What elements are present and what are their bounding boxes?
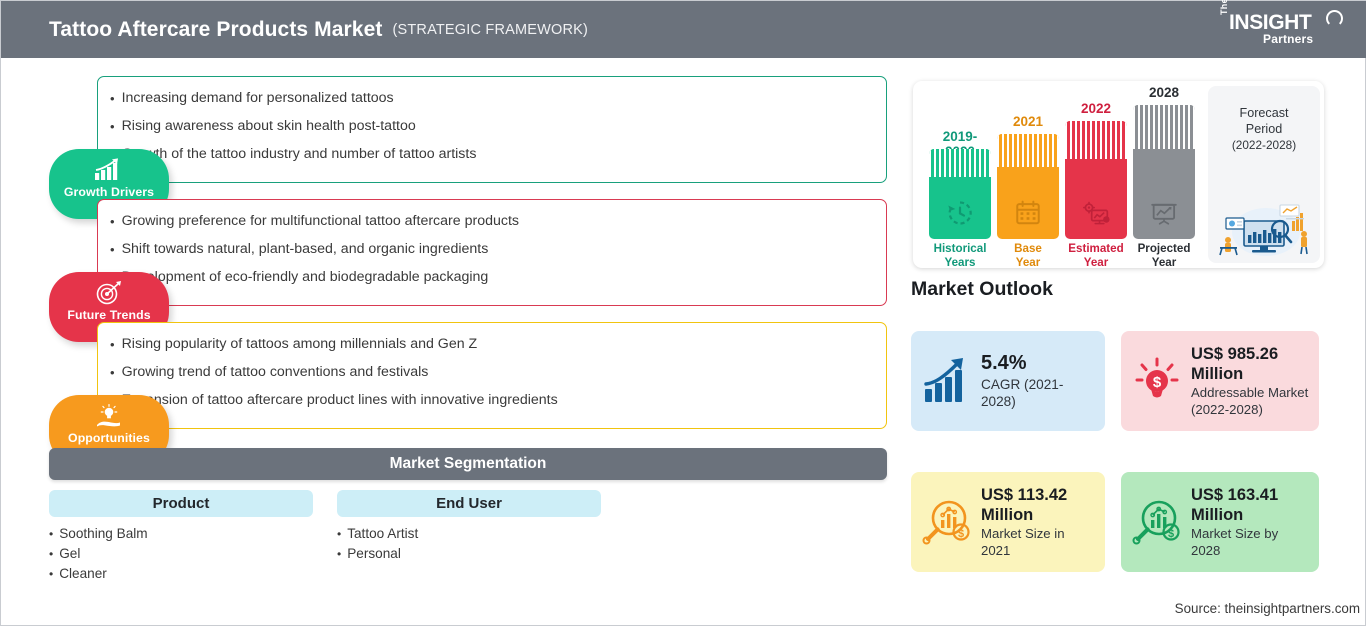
source-attribution: Source: theinsightpartners.com (1175, 601, 1360, 616)
bar-stripe-pattern (1133, 105, 1195, 149)
timeline-bars: 2019-2020 HistoricalYears 2021 (921, 81, 1201, 268)
bar-year-label: 2021 (997, 114, 1059, 129)
bar-caption: BaseYear (997, 242, 1059, 269)
bullet-dot-icon: • (110, 213, 115, 230)
opportunities-bullets: •Rising popularity of tattoos among mill… (98, 323, 886, 409)
segmentation-column-product: Product •Soothing Balm •Gel •Cleaner (49, 490, 313, 586)
list-item: •Shift towards natural, plant-based, and… (110, 241, 870, 258)
outlook-card-text: US$ 985.26 Million Addressable Market (2… (1191, 344, 1309, 418)
badge-label: Future Trends (67, 308, 150, 322)
segment-item-label: Gel (59, 546, 80, 562)
bar-chart-arrow-icon (92, 157, 126, 183)
outlook-card-value: US$ 985.26 (1191, 344, 1309, 364)
clock-rewind-icon (946, 199, 974, 227)
outlook-card-text: US$ 113.42 Million Market Size in 2021 (981, 485, 1095, 559)
bar-projected-year (1133, 105, 1195, 239)
bar-year-label: 2022 (1065, 101, 1127, 116)
list-item: •Growing trend of tattoo conventions and… (110, 364, 870, 381)
forecast-line-2: Period (1208, 121, 1320, 137)
list-item: •Development of eco-friendly and biodegr… (110, 269, 870, 286)
bullet-text: Rising popularity of tattoos among mille… (122, 336, 478, 353)
outlook-card-label: Addressable Market (2022-2028) (1191, 384, 1309, 418)
list-item: •Expansion of tattoo aftercare product l… (110, 392, 870, 409)
bar-year-label: 2028 (1133, 85, 1195, 100)
outlook-card-value: US$ 163.41 (1191, 485, 1309, 505)
list-item: •Gel (49, 546, 313, 562)
target-dart-icon (92, 280, 126, 306)
bullet-dot-icon: • (110, 90, 115, 107)
market-segmentation-header: Market Segmentation (49, 448, 887, 480)
bullet-dot-icon: • (110, 364, 115, 381)
page-header: Tattoo Aftercare Products Market (STRATE… (1, 1, 1366, 58)
magnifier-chart-dollar-icon: $ (1131, 496, 1183, 548)
bullet-dot-icon: • (49, 566, 53, 582)
forecast-line-3: (2022-2028) (1208, 137, 1320, 153)
list-item: •Personal (337, 546, 601, 562)
bullet-dot-icon: • (337, 546, 341, 562)
bar-estimated-year (1065, 121, 1127, 239)
insight-partners-logo: The INSIGHT Partners (1217, 9, 1345, 51)
bullet-dot-icon: • (49, 526, 53, 542)
outlook-card-text: US$ 163.41 Million Market Size by 2028 (1191, 485, 1309, 559)
logo-ring-icon (1326, 10, 1343, 27)
forecast-line-1: Forecast (1208, 105, 1320, 121)
outlook-card-market-size-2028: $ US$ 163.41 Million Market Size by 2028 (1121, 472, 1319, 572)
future-trends-bullets: •Growing preference for multifunctional … (98, 200, 886, 286)
page-subtitle: (STRATEGIC FRAMEWORK) (392, 22, 588, 38)
future-trends-box: •Growing preference for multifunctional … (97, 199, 887, 306)
bullet-text: Rising awareness about skin health post-… (122, 118, 416, 135)
badge-label: Opportunities (68, 431, 150, 445)
growth-drivers-box: •Increasing demand for personalized tatt… (97, 76, 887, 183)
outlook-card-label: Market Size in 2021 (981, 525, 1095, 559)
list-item: •Increasing demand for personalized tatt… (110, 90, 870, 107)
outlook-card-value: 5.4% (981, 352, 1095, 375)
bullet-dot-icon: • (49, 546, 53, 562)
bar-historical-years (929, 149, 991, 239)
segment-title-end-user: End User (337, 490, 601, 517)
segment-item-label: Cleaner (59, 566, 107, 582)
list-item: •Growing preference for multifunctional … (110, 213, 870, 230)
magnifier-chart-dollar-icon: $ (921, 496, 973, 548)
business-analytics-illustration (1214, 199, 1314, 257)
growth-drivers-bullets: •Increasing demand for personalized tatt… (98, 77, 886, 163)
segment-item-label: Personal (347, 546, 401, 562)
forecast-period-text: Forecast Period (2022-2028) (1208, 86, 1320, 153)
bar-caption: HistoricalYears (929, 242, 991, 269)
list-item: •Rising awareness about skin health post… (110, 118, 870, 135)
presentation-chart-icon (1150, 199, 1178, 227)
outlook-card-value: US$ 113.42 (981, 485, 1095, 505)
calendar-icon (1014, 199, 1042, 227)
bullet-text: Development of eco-friendly and biodegra… (122, 269, 489, 286)
segment-item-label: Tattoo Artist (347, 526, 418, 542)
logo-the-text: The (1219, 0, 1229, 15)
bar-base-year (997, 134, 1059, 239)
outlook-card-addressable-market: $ US$ 985.26 Million Addressable Market … (1121, 331, 1319, 431)
outlook-card-label: Market Size by 2028 (1191, 525, 1309, 559)
list-item: •Growth of the tattoo industry and numbe… (110, 146, 870, 163)
hand-lightbulb-icon (92, 403, 126, 429)
svg-text:$: $ (1168, 528, 1174, 540)
page-title: Tattoo Aftercare Products Market (49, 18, 382, 42)
bullet-dot-icon: • (110, 336, 115, 353)
outlook-card-label: CAGR (2021-2028) (981, 376, 1095, 410)
badge-label: Growth Drivers (64, 185, 154, 199)
opportunities-box: •Rising popularity of tattoos among mill… (97, 322, 887, 429)
outlook-card-cagr: 5.4% CAGR (2021-2028) (911, 331, 1105, 431)
segment-list-product: •Soothing Balm •Gel •Cleaner (49, 526, 313, 582)
bullet-text: Shift towards natural, plant-based, and … (122, 241, 489, 258)
bar-chart-arrow-icon (921, 355, 973, 407)
bar-stripe-pattern (1065, 121, 1127, 159)
gear-chart-icon (1082, 199, 1110, 227)
bullet-dot-icon: • (110, 241, 115, 258)
left-column: •Increasing demand for personalized tatt… (1, 58, 906, 626)
bullet-text: Growing preference for multifunctional t… (122, 213, 519, 230)
bullet-text: Growing trend of tattoo conventions and … (122, 364, 429, 381)
svg-text:$: $ (958, 528, 964, 540)
bullet-text: Expansion of tattoo aftercare product li… (122, 392, 558, 409)
segment-title-product: Product (49, 490, 313, 517)
bar-stripe-pattern (929, 149, 991, 177)
outlook-card-value-unit: Million (1191, 505, 1309, 525)
forecast-timeline-chart: 2019-2020 HistoricalYears 2021 (913, 81, 1324, 268)
bullet-dot-icon: • (337, 526, 341, 542)
bullet-text: Increasing demand for personalized tatto… (122, 90, 394, 107)
segmentation-column-end-user: End User •Tattoo Artist •Personal (337, 490, 601, 566)
list-item: •Soothing Balm (49, 526, 313, 542)
list-item: •Rising popularity of tattoos among mill… (110, 336, 870, 353)
bullet-dot-icon: • (110, 118, 115, 135)
list-item: •Cleaner (49, 566, 313, 582)
bullet-text: Growth of the tattoo industry and number… (122, 146, 477, 163)
right-column: 2019-2020 HistoricalYears 2021 (906, 58, 1366, 626)
segment-item-label: Soothing Balm (59, 526, 147, 542)
outlook-card-text: 5.4% CAGR (2021-2028) (981, 352, 1095, 410)
bar-caption: EstimatedYear (1065, 242, 1127, 269)
logo-partners-text: Partners (1263, 32, 1313, 46)
svg-text:$: $ (1153, 374, 1162, 391)
bar-caption: ProjectedYear (1133, 242, 1195, 269)
list-item: •Tattoo Artist (337, 526, 601, 542)
infographic-page: Tattoo Aftercare Products Market (STRATE… (0, 0, 1366, 626)
lightbulb-dollar-icon: $ (1131, 355, 1183, 407)
forecast-period-panel: Forecast Period (2022-2028) (1208, 86, 1320, 263)
outlook-card-market-size-2021: $ US$ 113.42 Million Market Size in 2021 (911, 472, 1105, 572)
market-outlook-title: Market Outlook (911, 278, 1053, 301)
outlook-card-value-unit: Million (1191, 364, 1309, 384)
bar-stripe-pattern (997, 134, 1059, 167)
outlook-card-value-unit: Million (981, 505, 1095, 525)
segment-list-end-user: •Tattoo Artist •Personal (337, 526, 601, 562)
